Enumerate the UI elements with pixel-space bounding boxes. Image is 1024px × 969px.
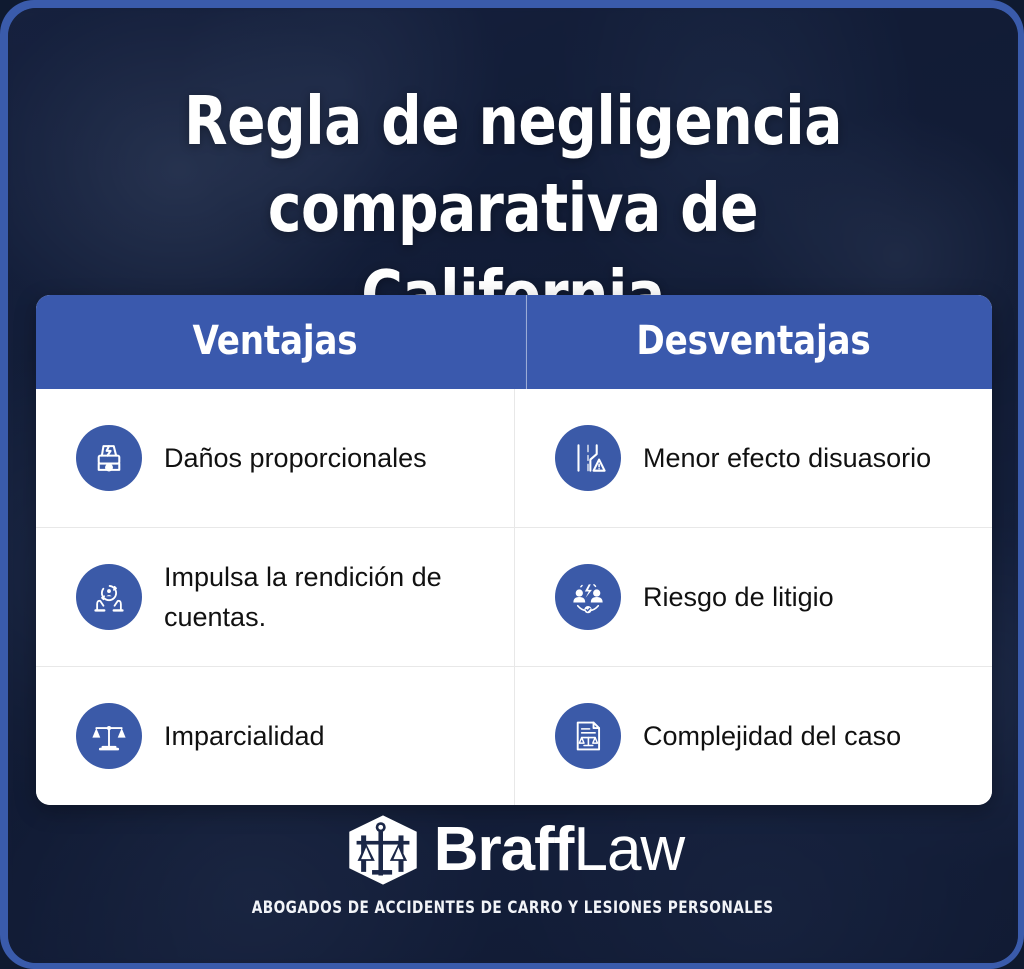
infographic-canvas: Regla de negligencia comparativa de Cali… [8, 8, 1018, 963]
brand-logo: BraffLaw ABOGADOS DE ACCIDENTES DE CARRO… [8, 813, 1018, 917]
table-cell-con: Riesgo de litigio [514, 528, 992, 666]
cell-label: Impulsa la rendición de cuentas. [164, 557, 492, 638]
table-row: Impulsa la rendición de cuentas. [36, 527, 992, 666]
cell-label: Imparcialidad [164, 716, 325, 757]
document-scales-icon [555, 703, 621, 769]
brand-wordmark: BraffLaw [434, 819, 684, 881]
table-cell-con: Complejidad del caso [514, 667, 992, 805]
road-warning-icon [555, 425, 621, 491]
table-row: Daños proporcionales [36, 389, 992, 527]
hands-person-icon [76, 564, 142, 630]
comparison-table: Ventajas Desventajas [36, 295, 992, 805]
brand-name-bold: Braff [434, 815, 574, 884]
table-cell-pro: Impulsa la rendición de cuentas. [36, 528, 514, 666]
cell-label: Daños proporcionales [164, 438, 427, 479]
cell-label: Riesgo de litigio [643, 577, 834, 618]
table-cell-con: Menor efecto disuasorio [514, 389, 992, 527]
people-conflict-icon [555, 564, 621, 630]
table-cell-pro: Imparcialidad [36, 667, 514, 805]
table-header-row: Ventajas Desventajas [36, 295, 992, 389]
cell-label: Menor efecto disuasorio [643, 438, 931, 479]
scales-balance-icon [76, 703, 142, 769]
infographic-card: Regla de negligencia comparativa de Cali… [0, 0, 1024, 969]
table-cell-pro: Daños proporcionales [36, 389, 514, 527]
damaged-car-icon [76, 425, 142, 491]
column-header-cons: Desventajas [526, 295, 980, 389]
hexagon-scales-icon [342, 813, 424, 887]
table-row: Imparcialidad [36, 666, 992, 805]
brand-name-light: Law [573, 815, 684, 884]
cell-label: Complejidad del caso [643, 716, 901, 757]
page-title: Regla de negligencia comparativa de Cali… [62, 8, 964, 339]
brand-tagline: ABOGADOS DE ACCIDENTES DE CARRO Y LESION… [252, 898, 774, 917]
table-body: Daños proporcionales [36, 389, 992, 805]
column-header-pros: Ventajas [48, 295, 502, 389]
